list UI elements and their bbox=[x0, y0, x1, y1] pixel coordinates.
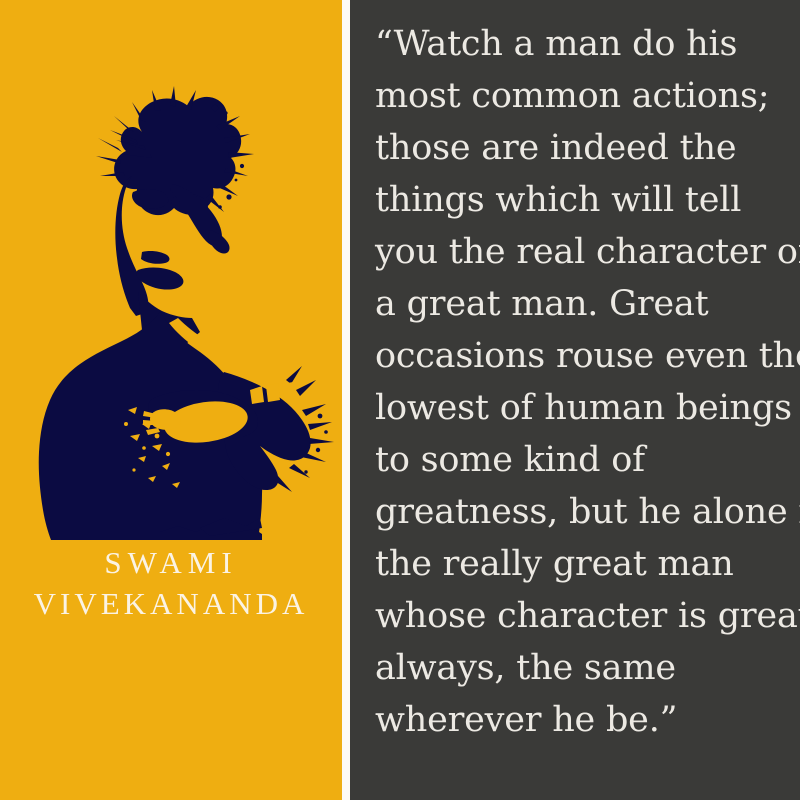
quote-line: you the real character of bbox=[375, 226, 790, 278]
vivekananda-silhouette-icon bbox=[10, 80, 340, 540]
quote-line: to some kind of bbox=[375, 434, 790, 486]
quote-line: the really great man bbox=[375, 538, 790, 590]
quote-line: whose character is great bbox=[375, 590, 790, 642]
quote-line: “Watch a man do his bbox=[375, 18, 790, 70]
author-name-line-1: SWAMI bbox=[0, 542, 342, 583]
quote-panel: “Watch a man do his most common actions;… bbox=[350, 0, 800, 800]
portrait-panel: SWAMI VIVEKANANDA bbox=[0, 0, 342, 800]
quote-line: most common actions; bbox=[375, 70, 790, 122]
quote-line: lowest of human beings bbox=[375, 382, 790, 434]
quote-line: wherever he be.” bbox=[375, 694, 790, 746]
panel-divider bbox=[342, 0, 350, 800]
quote-line: always, the same bbox=[375, 642, 790, 694]
quote-line: occasions rouse even the bbox=[375, 330, 790, 382]
quote-line: greatness, but he alone is bbox=[375, 486, 790, 538]
quote-text: “Watch a man do his most common actions;… bbox=[375, 18, 790, 746]
author-name-line-2: VIVEKANANDA bbox=[0, 583, 342, 624]
quote-line: a great man. Great bbox=[375, 278, 790, 330]
author-name: SWAMI VIVEKANANDA bbox=[0, 542, 342, 624]
quote-line: things which will tell bbox=[375, 174, 790, 226]
quote-line: those are indeed the bbox=[375, 122, 790, 174]
quote-card: SWAMI VIVEKANANDA “Watch a man do his mo… bbox=[0, 0, 800, 800]
